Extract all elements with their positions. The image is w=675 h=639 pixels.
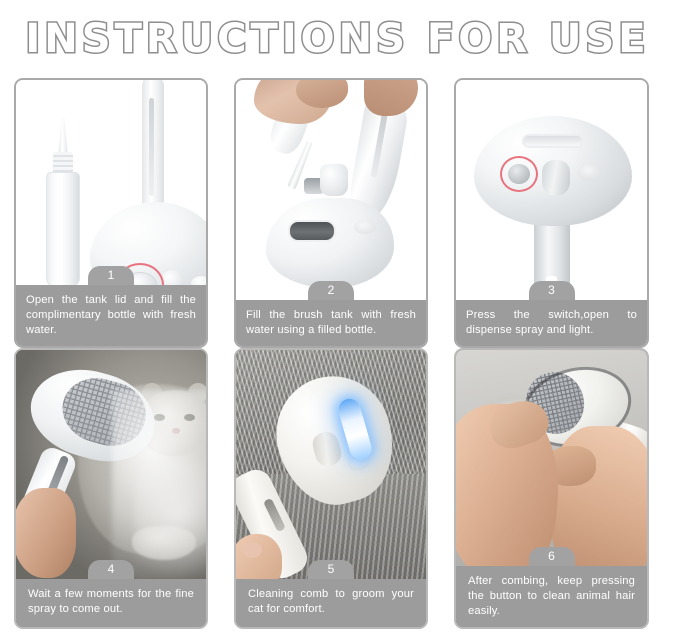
page-header: INSTRUCTIONS FOR USE [0, 0, 675, 78]
illustration-filling-tank [236, 80, 426, 300]
hand-holding-brush [16, 488, 76, 578]
thumb-nail [242, 542, 262, 558]
step-caption: After combing, keep pressing the button … [456, 566, 647, 627]
step-caption: Wait a few moments for the fine spray to… [16, 579, 206, 627]
step-photo-1: 1 [16, 80, 206, 285]
highlight-ring-icon [500, 156, 538, 192]
step-photo-3: 3 [456, 80, 647, 300]
step-card-3: 3 Press the switch,open to dispense spra… [454, 78, 649, 348]
step-caption: Open the tank lid and fill the complimen… [14, 285, 208, 348]
bottle-nozzle-tip [58, 118, 68, 156]
step-number-badge: 4 [88, 560, 134, 579]
step-card-5: 5 Cleaning comb to groom your cat for co… [234, 348, 428, 629]
led-slot [522, 134, 584, 148]
step-number-badge: 1 [88, 266, 134, 285]
bottle-body [46, 172, 80, 285]
step-card-4: 4 Wait a few moments for the fine spray … [14, 348, 208, 629]
step-number-badge: 2 [308, 281, 354, 300]
step-caption: Fill the brush tank with fresh water usi… [234, 300, 428, 348]
step-photo-2: 2 [236, 80, 426, 300]
brush-knob [161, 270, 183, 285]
tank-cap [320, 164, 348, 196]
step-caption: Cleaning comb to groom your cat for comf… [236, 579, 426, 627]
step-card-2: 2 Fill the brush tank with fresh water u… [234, 78, 428, 348]
illustration-grooming-cat [236, 350, 426, 579]
step-number-badge: 3 [529, 281, 575, 300]
brush-side-button [578, 164, 602, 181]
illustration-brush-head-switch [456, 80, 647, 300]
step-card-6: 6 After combing, keep pressing the butto… [454, 348, 649, 629]
instruction-steps-grid: 1 Open the tank lid and fill the complim… [0, 78, 675, 629]
illustration-bottle-and-brush [16, 80, 206, 285]
step-card-1: 1 Open the tank lid and fill the complim… [14, 78, 208, 348]
brush-handle-slot [149, 98, 154, 196]
step-number-badge: 6 [529, 547, 575, 566]
illustration-cleaning-hair [456, 350, 647, 566]
step-photo-4: 4 [16, 350, 206, 579]
brush-side-button [191, 276, 206, 285]
step-number-badge: 5 [308, 560, 354, 579]
brush-knob [542, 160, 570, 196]
illustration-spray-on-cat [16, 350, 206, 579]
step-photo-6: 6 [456, 350, 647, 566]
step-caption: Press the switch,open to dispense spray … [454, 300, 649, 348]
hand-thumb [236, 534, 282, 579]
water-mist-spray-secondary [134, 460, 206, 579]
forearm [364, 80, 418, 116]
step-photo-5: 5 [236, 350, 426, 579]
brush-side-button [354, 220, 376, 234]
water-level-window [288, 220, 336, 242]
brush-base [266, 198, 394, 288]
page-title: INSTRUCTIONS FOR USE [25, 16, 649, 62]
